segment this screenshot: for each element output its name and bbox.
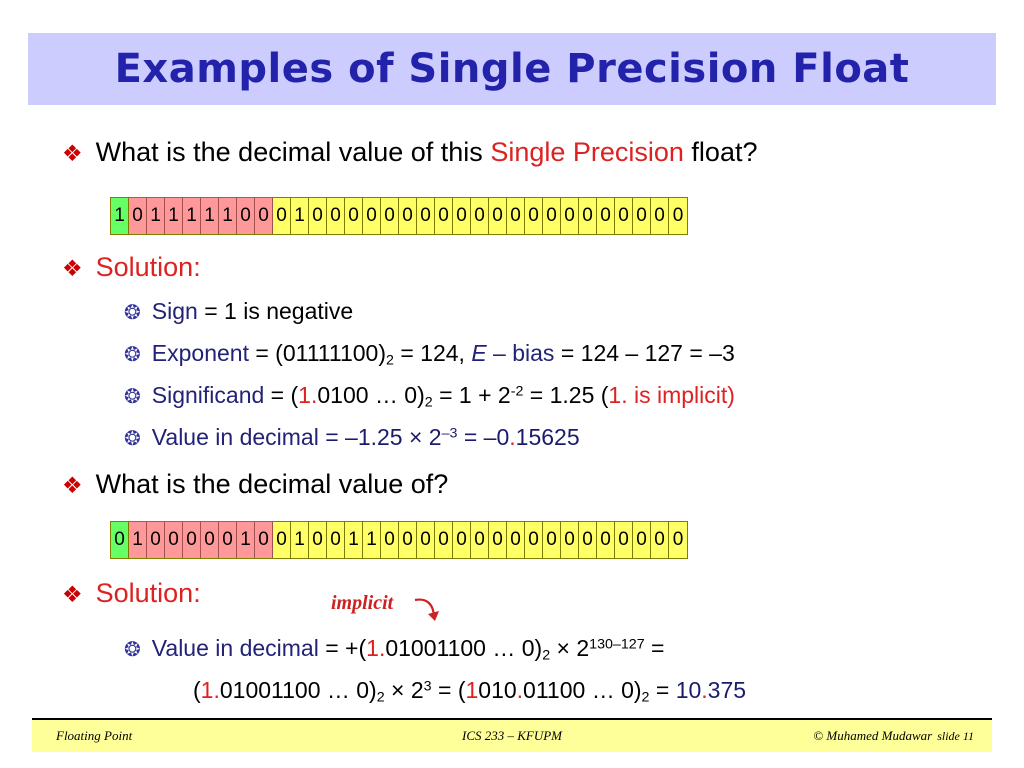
value-eq2: = –0 <box>457 424 509 450</box>
bits2-mantissa-bit-24: 0 <box>543 522 561 558</box>
value3-result-post: 375 <box>708 677 746 703</box>
significand-sup-exp: -2 <box>511 384 524 400</box>
solution-2-line-1-text: Value in decimal = +(1.01001100 … 0)2 × … <box>152 635 665 664</box>
solution-1-value-text: Value in decimal = –1.25 × 2–3 = –0.1562… <box>152 424 580 451</box>
implicit-annotation-label: implicit <box>331 592 393 615</box>
bits2-sign-bit-0: 0 <box>111 522 129 558</box>
exponent-eq2: = 124, <box>394 340 471 366</box>
bits1-mantissa-bit-13: 0 <box>345 198 363 234</box>
solution-2-value-line-1: ❂ Value in decimal = +(1.01001100 … 0)2 … <box>124 635 664 664</box>
bits1-exponent-bit-2: 1 <box>147 198 165 234</box>
bits1-mantissa-bit-27: 0 <box>597 198 615 234</box>
value-sup-exp: –3 <box>442 426 458 442</box>
bits1-mantissa-bit-25: 0 <box>561 198 579 234</box>
page-title: Examples of Single Precision Float <box>115 46 910 92</box>
solution-1-sign-line: ❂ Sign = 1 is negative <box>124 298 353 325</box>
value3-result-pre: 10 <box>676 677 702 703</box>
bits2-exponent-bit-6: 0 <box>219 522 237 558</box>
bits1-mantissa-bit-26: 0 <box>579 198 597 234</box>
significand-note-tail: is implicit) <box>628 382 735 408</box>
value2-sup-exp: 130–127 <box>589 637 644 653</box>
significand-label: Significand <box>152 382 265 408</box>
value2-sub-2: 2 <box>542 648 550 664</box>
bits1-exponent-bit-3: 1 <box>165 198 183 234</box>
bits1-mantissa-bit-19: 0 <box>453 198 471 234</box>
bits2-mantissa-bit-30: 0 <box>651 522 669 558</box>
value3-eq2: = ( <box>432 677 466 703</box>
significand-bits: 0100 … 0) <box>317 382 424 408</box>
small-diamond-bullet-icon: ❂ <box>124 345 141 365</box>
small-diamond-bullet-icon: ❂ <box>124 303 141 323</box>
implicit-arrow-icon <box>412 594 446 628</box>
exponent-eq3: = 124 – 127 = –3 <box>554 340 734 366</box>
footer-center-text: ICS 233 – KFUPM <box>462 728 562 744</box>
value3-paren-open: ( <box>193 677 201 703</box>
bits2-mantissa-bit-18: 0 <box>435 522 453 558</box>
bits2-exponent-bit-3: 0 <box>165 522 183 558</box>
footer-left-text: Floating Point <box>56 728 132 744</box>
value3-sub-2: 2 <box>377 690 385 706</box>
bits2-mantissa-bit-12: 0 <box>327 522 345 558</box>
small-diamond-bullet-icon: ❂ <box>124 429 141 449</box>
exponent-minus-bias: – bias <box>487 340 555 366</box>
question-1-pre: What is the decimal value of this <box>96 137 491 167</box>
significand-sub-2: 2 <box>425 395 433 411</box>
solution-1-sign-text: Sign = 1 is negative <box>152 298 353 325</box>
diamond-bullet-icon: ❖ <box>62 142 83 165</box>
footer-slide-number: slide 11 <box>937 729 974 743</box>
bits2-mantissa-bit-15: 0 <box>381 522 399 558</box>
bits1-mantissa-bit-15: 0 <box>381 198 399 234</box>
bits1-mantissa-bit-12: 0 <box>327 198 345 234</box>
bits2-exponent-bit-8: 0 <box>255 522 273 558</box>
bits1-mantissa-bit-20: 0 <box>471 198 489 234</box>
question-2-bullet: ❖ What is the decimal value of? <box>62 469 448 500</box>
bits1-mantissa-bit-10: 1 <box>291 198 309 234</box>
sign-value: = 1 is negative <box>198 298 353 324</box>
significand-eq1: = ( <box>264 382 298 408</box>
bits1-exponent-bit-6: 1 <box>219 198 237 234</box>
value3-implicit-one: 1 <box>201 677 214 703</box>
solution-1-label: Solution: <box>96 252 201 283</box>
bits1-mantissa-bit-17: 0 <box>417 198 435 234</box>
value2-eq3: = <box>645 635 665 661</box>
value3-eq1: × 2 <box>385 677 424 703</box>
value3-red-one-2: 1 <box>465 677 478 703</box>
value2-eq1: = +( <box>319 635 366 661</box>
solution-1-value-line: ❂ Value in decimal = –1.25 × 2–3 = –0.15… <box>124 424 580 451</box>
bits2-exponent-bit-2: 0 <box>147 522 165 558</box>
bits2-mantissa-bit-19: 0 <box>453 522 471 558</box>
value3-bits: 01001100 … 0) <box>220 677 377 703</box>
value2-label: Value in decimal <box>152 635 319 661</box>
solution-1-heading: ❖ Solution: <box>62 252 201 283</box>
bits2-mantissa-bit-21: 0 <box>489 522 507 558</box>
solution-2-heading: ❖ Solution: <box>62 578 201 609</box>
solution-1-significand-text: Significand = (1.0100 … 0)2 = 1 + 2-2 = … <box>152 382 735 411</box>
exponent-e-symbol: E <box>471 340 486 366</box>
question-2-text: What is the decimal value of? <box>96 469 449 500</box>
significand-eq2: = 1 + 2 <box>433 382 511 408</box>
solution-1-exponent-line: ❂ Exponent = (01111100)2 = 124, E – bias… <box>124 340 735 369</box>
bits2-mantissa-bit-10: 1 <box>291 522 309 558</box>
bits2-mantissa-bit-27: 0 <box>597 522 615 558</box>
bits1-sign-bit-0: 1 <box>111 198 129 234</box>
bits1-exponent-bit-4: 1 <box>183 198 201 234</box>
bits1-exponent-bit-7: 0 <box>237 198 255 234</box>
value-label: Value in decimal <box>152 424 319 450</box>
bits1-exponent-bit-8: 0 <box>255 198 273 234</box>
bits2-mantissa-bit-20: 0 <box>471 522 489 558</box>
bits1-mantissa-bit-29: 0 <box>633 198 651 234</box>
bits2-mantissa-bit-25: 0 <box>561 522 579 558</box>
value2-eq2: × 2 <box>550 635 589 661</box>
bits2-mantissa-bit-31: 0 <box>669 522 687 558</box>
bits2-mantissa-bit-16: 0 <box>399 522 417 558</box>
bits2-mantissa-bit-23: 0 <box>525 522 543 558</box>
question-1-text: What is the decimal value of this Single… <box>96 137 758 168</box>
bits1-exponent-bit-1: 0 <box>129 198 147 234</box>
bits2-exponent-bit-7: 1 <box>237 522 255 558</box>
value2-implicit-one: 1 <box>366 635 379 661</box>
bit-pattern-1: 10111110001000000000000000000000 <box>110 197 688 235</box>
question-1-post: float? <box>684 137 758 167</box>
bits1-mantissa-bit-23: 0 <box>525 198 543 234</box>
bits1-mantissa-bit-22: 0 <box>507 198 525 234</box>
bits2-mantissa-bit-22: 0 <box>507 522 525 558</box>
bits1-mantissa-bit-9: 0 <box>273 198 291 234</box>
footer-right: © Muhamed Mudawarslide 11 <box>813 728 974 744</box>
diamond-bullet-icon: ❖ <box>62 257 83 280</box>
significand-note-one: 1 <box>608 382 621 408</box>
bits2-mantissa-bit-13: 1 <box>345 522 363 558</box>
bits2-mantissa-bit-26: 0 <box>579 522 597 558</box>
question-1-bullet: ❖ What is the decimal value of this Sing… <box>62 137 757 168</box>
slide-title-banner: Examples of Single Precision Float <box>28 33 996 105</box>
solution-1-exponent-text: Exponent = (01111100)2 = 124, E – bias =… <box>152 340 735 369</box>
slide-canvas: Examples of Single Precision Float ❖ Wha… <box>0 0 1024 768</box>
bits2-mantissa-bit-9: 0 <box>273 522 291 558</box>
bits1-mantissa-bit-28: 0 <box>615 198 633 234</box>
solution-2-line-2-text: (1.01001100 … 0)2 × 23 = (1010.01100 … 0… <box>193 677 746 706</box>
bits1-mantissa-bit-21: 0 <box>489 198 507 234</box>
bits1-mantissa-bit-24: 0 <box>543 198 561 234</box>
exponent-eq1: = (01111100) <box>249 340 386 366</box>
bits1-exponent-bit-5: 1 <box>201 198 219 234</box>
bits2-mantissa-bit-14: 1 <box>363 522 381 558</box>
significand-implicit-one: 1 <box>298 382 311 408</box>
bits2-exponent-bit-1: 1 <box>129 522 147 558</box>
bits1-mantissa-bit-11: 0 <box>309 198 327 234</box>
bits1-mantissa-bit-18: 0 <box>435 198 453 234</box>
value-eq1: = –1.25 × 2 <box>319 424 442 450</box>
value3-bits-3: 01100 … 0) <box>523 677 641 703</box>
diamond-bullet-icon: ❖ <box>62 583 83 606</box>
bits2-mantissa-bit-28: 0 <box>615 522 633 558</box>
exponent-sub-2: 2 <box>386 353 394 369</box>
sign-label: Sign <box>152 298 198 324</box>
diamond-bullet-icon: ❖ <box>62 474 83 497</box>
solution-2-label: Solution: <box>96 578 201 609</box>
footer-copyright: © Muhamed Mudawar <box>813 728 932 743</box>
bits2-exponent-bit-5: 0 <box>201 522 219 558</box>
solution-2-value-line-2: (1.01001100 … 0)2 × 23 = (1010.01100 … 0… <box>193 677 746 706</box>
significand-eq3: = 1.25 ( <box>523 382 608 408</box>
bit-pattern-2: 01000001001001100000000000000000 <box>110 521 688 559</box>
bits1-mantissa-bit-30: 0 <box>651 198 669 234</box>
bits1-mantissa-bit-14: 0 <box>363 198 381 234</box>
value3-bits-2: 010 <box>478 677 516 703</box>
small-diamond-bullet-icon: ❂ <box>124 640 141 660</box>
value3-eq3: = <box>649 677 675 703</box>
bits2-mantissa-bit-17: 0 <box>417 522 435 558</box>
slide-footer: Floating Point ICS 233 – KFUPM © Muhamed… <box>32 718 992 752</box>
solution-1-significand-line: ❂ Significand = (1.0100 … 0)2 = 1 + 2-2 … <box>124 382 735 411</box>
value-eq3: 15625 <box>516 424 580 450</box>
value2-bits: 01001100 … 0) <box>385 635 542 661</box>
question-1-highlight: Single Precision <box>490 137 684 167</box>
exponent-label: Exponent <box>152 340 249 366</box>
small-diamond-bullet-icon: ❂ <box>124 387 141 407</box>
bits2-exponent-bit-4: 0 <box>183 522 201 558</box>
value3-sup-3: 3 <box>424 679 432 695</box>
bits1-mantissa-bit-16: 0 <box>399 198 417 234</box>
bits2-mantissa-bit-11: 0 <box>309 522 327 558</box>
bits2-mantissa-bit-29: 0 <box>633 522 651 558</box>
bits1-mantissa-bit-31: 0 <box>669 198 687 234</box>
